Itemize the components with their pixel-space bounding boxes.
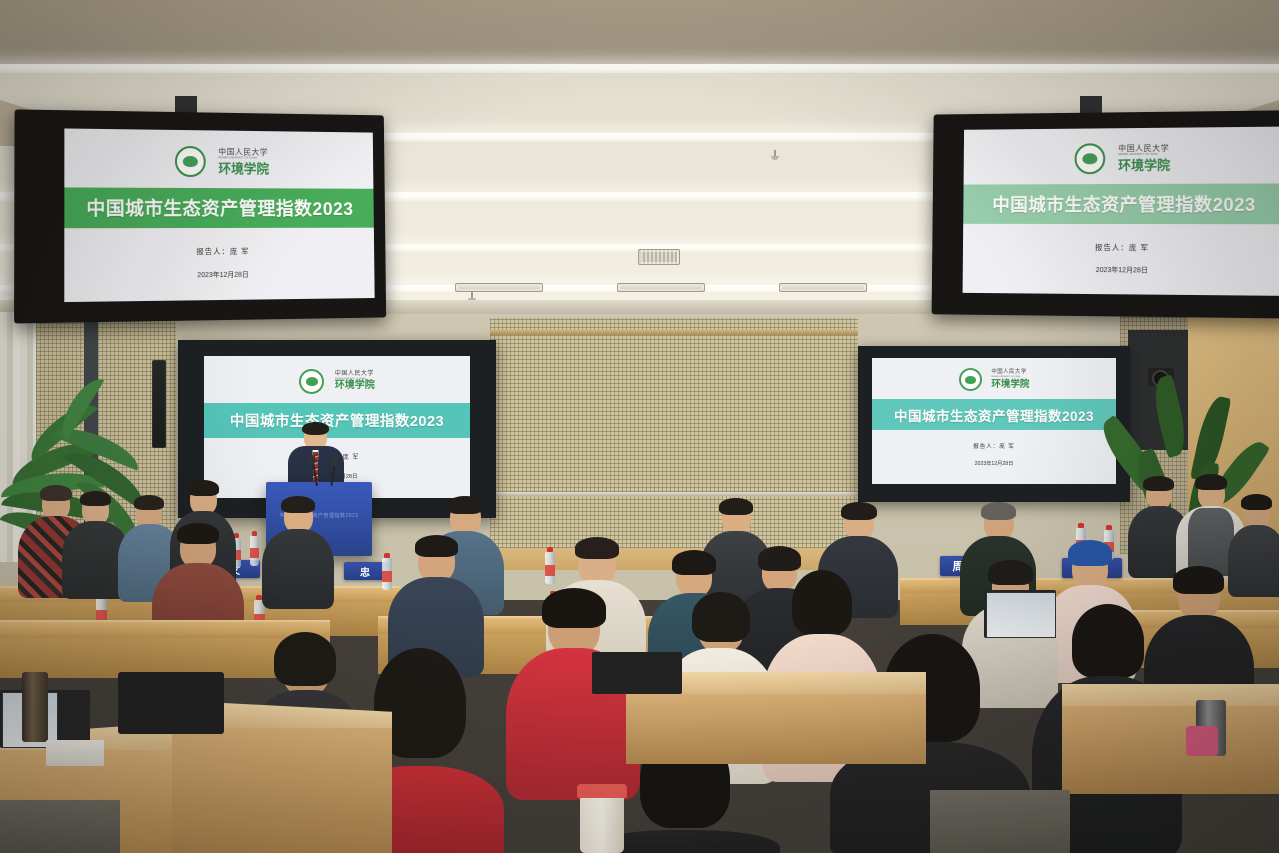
slide-right-screen: 中国人民大学 RENMIN UNIVERSITY OF CHINA 环境学院 中… xyxy=(872,358,1116,484)
slide-title: 中国城市生态资产管理指数2023 xyxy=(86,195,353,221)
acoustic-wall-center xyxy=(490,318,858,548)
wall-monitor-left: 中国人民大学 RENMIN UNIVERSITY OF CHINA 环境学院 中… xyxy=(14,109,386,323)
slide-university-name-en: RENMIN UNIVERSITY OF CHINA xyxy=(1118,154,1170,157)
laptop xyxy=(118,672,224,734)
air-vent xyxy=(455,283,543,292)
slide-date: 2023年12月28日 xyxy=(1096,265,1148,275)
foreground-desk-center-panel xyxy=(172,728,392,853)
projection-screen-right: 中国人民大学 RENMIN UNIVERSITY OF CHINA 环境学院 中… xyxy=(858,346,1130,502)
water-bottle xyxy=(250,536,259,566)
slide-left: 中国人民大学 RENMIN UNIVERSITY OF CHINA 环境学院 中… xyxy=(64,128,374,302)
conference-hall-photo: 中国人民大学 RENMIN UNIVERSITY OF CHINA 环境学院 中… xyxy=(0,0,1279,853)
slide-school-name: 环境学院 xyxy=(335,381,375,391)
laptop xyxy=(984,590,1056,638)
slide-school-name: 环境学院 xyxy=(991,380,1029,390)
foreground-desk-far-right-panel xyxy=(1062,706,1279,794)
slide-title: 中国城市生态资产管理指数2023 xyxy=(992,191,1256,217)
slide-presenter: 报告人：庞 军 xyxy=(196,246,249,257)
slide-school-name: 环境学院 xyxy=(1118,159,1170,172)
slide-university-name: 中国人民大学 xyxy=(335,371,375,377)
paper-cup xyxy=(580,790,624,853)
slide-presenter: 报告人：庞 军 xyxy=(973,442,1015,450)
thermos-bottle xyxy=(22,672,48,742)
air-vent xyxy=(617,283,705,292)
mid-desk-left xyxy=(0,620,330,640)
air-vent xyxy=(638,249,680,265)
slide-right: 中国人民大学 RENMIN UNIVERSITY OF CHINA 环境学院 中… xyxy=(963,127,1279,296)
laptop xyxy=(592,652,682,694)
sprinkler-icon xyxy=(771,150,779,162)
foreground-desk-right-panel xyxy=(626,694,926,764)
slide-school-name: 环境学院 xyxy=(218,162,269,175)
notebook xyxy=(46,740,104,766)
slide-university-name-en: RENMIN UNIVERSITY OF CHINA xyxy=(218,157,269,160)
slide-presenter: 报告人：庞 军 xyxy=(1095,242,1149,253)
placard-text: 忠 xyxy=(360,564,372,579)
slide-title: 中国城市生态资产管理指数2023 xyxy=(894,405,1094,425)
floor-carpet xyxy=(0,800,120,853)
attendee xyxy=(262,500,334,606)
slide-date: 2023年12月28日 xyxy=(197,270,249,280)
air-vent xyxy=(779,283,867,292)
floor-carpet xyxy=(930,790,1070,853)
wall-monitor-right: 中国人民大学 RENMIN UNIVERSITY OF CHINA 环境学院 中… xyxy=(932,110,1279,318)
slide-date: 2023年12月28日 xyxy=(975,460,1014,467)
pink-pouch xyxy=(1186,726,1218,756)
